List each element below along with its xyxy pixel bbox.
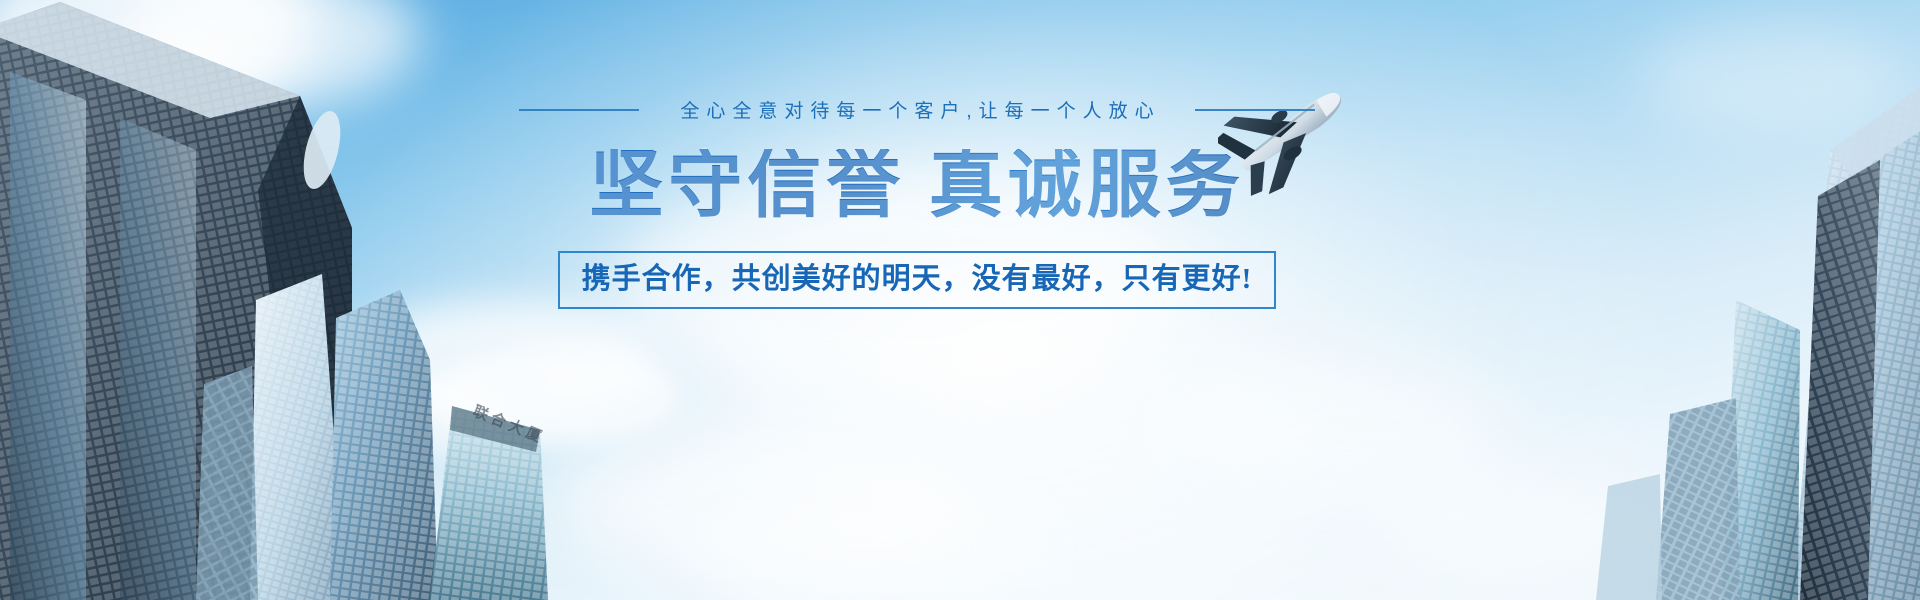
cloud-shape	[1180, 360, 1510, 490]
building-windows	[250, 274, 346, 600]
subtitle-text: 携手合作，共创美好的明天，没有最好，只有更好!	[582, 265, 1253, 294]
building-shape	[330, 290, 438, 600]
building-shape	[1722, 300, 1800, 600]
building-windows	[196, 366, 258, 600]
subtitle-box: 携手合作，共创美好的明天，没有最好，只有更好!	[558, 251, 1277, 309]
cloud-shape	[170, 470, 470, 580]
building-shape	[1596, 474, 1662, 600]
building-windows	[1656, 398, 1740, 600]
cloud-shape	[560, 430, 980, 580]
building-windows	[330, 290, 438, 600]
headline-text: 坚守信誉 真诚服务	[589, 149, 1245, 223]
building-windows	[1722, 300, 1800, 600]
building-shape	[1656, 398, 1740, 600]
tagline-text: 全心全意对待每一个客户,让每一个人放心	[673, 96, 1160, 123]
cloud-shape	[430, 350, 680, 445]
building-shape	[196, 366, 258, 600]
hero-banner: 联合大厦 全心全意对待每一个客户,让每一个人放心 坚守信誉 真诚服务 携手合作，…	[0, 0, 1920, 600]
tagline-rule-left	[519, 109, 639, 111]
tagline-row: 全心全意对待每一个客户,让每一个人放心	[519, 96, 1314, 123]
building-shape	[430, 406, 548, 600]
building-windows	[430, 406, 548, 600]
cloud-shape	[120, 0, 420, 110]
cloud-shape	[700, 490, 1040, 600]
building-sign-text: 联合大厦	[470, 400, 548, 448]
building-band	[450, 406, 540, 452]
tagline-rule-right	[1195, 109, 1315, 111]
building-shape	[250, 274, 346, 600]
cloud-shape	[1380, 460, 1680, 580]
cloud-shape	[300, 380, 510, 460]
cloud-shape	[340, 300, 660, 430]
hero-text-block: 全心全意对待每一个客户,让每一个人放心 坚守信誉 真诚服务 携手合作，共创美好的…	[0, 96, 1920, 309]
